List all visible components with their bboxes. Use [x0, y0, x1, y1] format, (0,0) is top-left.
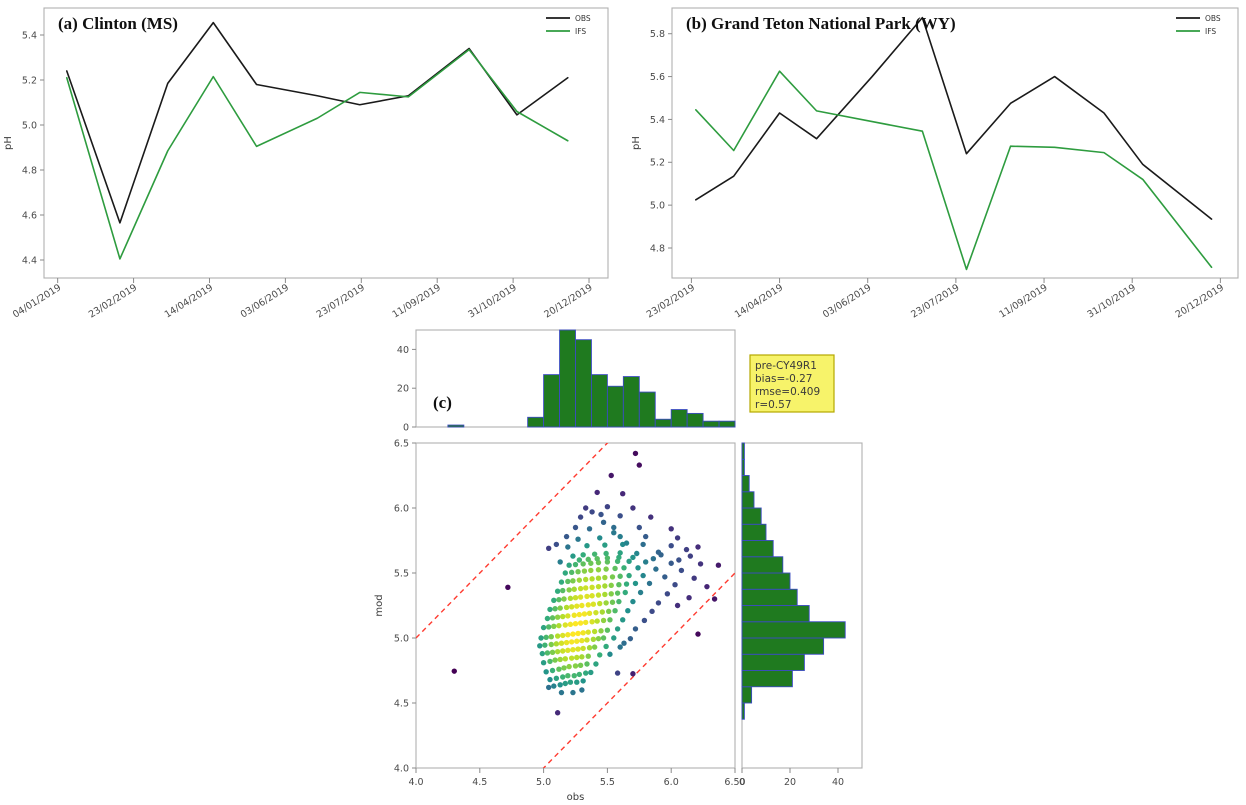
scatter-point	[616, 582, 621, 587]
scatter-point	[669, 543, 674, 548]
scatter-point	[625, 608, 630, 613]
scatter-point	[607, 652, 612, 657]
panel-b-xtick-label: 20/12/2019	[1174, 282, 1226, 320]
scatter-point	[557, 682, 562, 687]
scatter-point	[676, 557, 681, 562]
scatter-point	[547, 677, 552, 682]
scatter-point	[563, 570, 568, 575]
scatter-point	[560, 588, 565, 593]
scatter-point	[640, 542, 645, 547]
scatter-point	[580, 561, 585, 566]
scatter-point	[577, 672, 582, 677]
scatter-point	[605, 555, 610, 560]
hist-top-bar	[671, 410, 687, 427]
scatter-point	[603, 551, 608, 556]
hist-top-bar	[687, 413, 703, 427]
hist-top-bar	[719, 421, 735, 427]
panel-a-xtick-label: 23/02/2019	[87, 282, 139, 320]
scatter-point	[578, 586, 583, 591]
scatter-point	[606, 609, 611, 614]
scatter-point	[633, 581, 638, 586]
scatter-point	[649, 609, 654, 614]
scatter-point	[552, 606, 557, 611]
scatter-point	[615, 590, 620, 595]
panel-a-legend-label-obs: OBS	[575, 14, 591, 23]
scatter-point	[675, 535, 680, 540]
panel-c-label: (c)	[433, 393, 452, 412]
scatter-point	[554, 542, 559, 547]
scatter-point	[675, 603, 680, 608]
scatter-xlabel: obs	[567, 792, 585, 803]
scatter-point	[564, 534, 569, 539]
scatter-point	[550, 615, 555, 620]
scatter-point	[547, 607, 552, 612]
hist-right-xtick-label: 20	[784, 777, 796, 788]
scatter-point	[560, 614, 565, 619]
panel-a-xtick-label: 03/06/2019	[239, 282, 291, 320]
scatter-point	[579, 687, 584, 692]
panel-a-xtick-label: 23/07/2019	[315, 282, 367, 320]
scatter-point	[601, 635, 606, 640]
scatter-point	[588, 568, 593, 573]
scatter-point	[624, 581, 629, 586]
scatter-point	[638, 590, 643, 595]
scatter-point	[621, 565, 626, 570]
scatter-point	[568, 680, 573, 685]
scatter-point	[586, 654, 591, 659]
scatter-point	[555, 615, 560, 620]
scatter-point	[577, 577, 582, 582]
scatter-point	[583, 585, 588, 590]
scatter-point	[565, 673, 570, 678]
scatter-point	[541, 660, 546, 665]
scatter-point	[555, 633, 560, 638]
panel-a-xtick-label: 31/10/2019	[466, 282, 518, 320]
scatter-point	[565, 648, 570, 653]
scatter-point	[592, 629, 597, 634]
scatter-point	[691, 576, 696, 581]
hist-top-ytick-label: 0	[403, 422, 409, 433]
scatter-point	[607, 617, 612, 622]
scatter-point	[637, 525, 642, 530]
scatter-ytick-label: 5.0	[394, 633, 409, 644]
scatter-point	[551, 624, 556, 629]
panel-a-ytick-label: 4.4	[22, 255, 37, 266]
scatter-xtick-label: 5.0	[536, 777, 551, 788]
scatter-point	[452, 668, 457, 673]
scatter-point	[578, 594, 583, 599]
scatter-point	[574, 655, 579, 660]
hist-top-bar	[544, 375, 560, 427]
scatter-point	[569, 604, 574, 609]
scatter-point	[573, 595, 578, 600]
scatter-point	[570, 631, 575, 636]
scatter-point	[583, 670, 588, 675]
scatter-point	[568, 622, 573, 627]
scatter-point	[546, 546, 551, 551]
hist-top-bar	[448, 425, 464, 427]
scatter-point	[582, 568, 587, 573]
panel-b-ytick-label: 4.8	[650, 243, 665, 254]
hist-top-ytick-label: 20	[397, 384, 409, 395]
panel-a-ylabel: pH	[3, 136, 14, 150]
scatter-point	[669, 561, 674, 566]
scatter-point	[565, 579, 570, 584]
scatter-point	[551, 598, 556, 603]
scatter-point	[556, 667, 561, 672]
scatter-point	[584, 543, 589, 548]
scatter-point	[594, 490, 599, 495]
scatter-point	[616, 599, 621, 604]
scatter-point	[583, 505, 588, 510]
panel-b-title: (b) Grand Teton National Park (WY)	[686, 14, 956, 33]
scatter-point	[686, 595, 691, 600]
scatter-point	[560, 633, 565, 638]
scatter-point	[554, 641, 559, 646]
hist-top-bar	[607, 386, 623, 427]
scatter-point	[575, 569, 580, 574]
scatter-point	[559, 579, 564, 584]
scatter-point	[603, 600, 608, 605]
scatter-ytick-label: 6.5	[394, 438, 409, 449]
scatter-point	[597, 652, 602, 657]
scatter-point	[575, 646, 580, 651]
scatter-point	[605, 504, 610, 509]
panel-b-ytick-label: 5.6	[650, 72, 665, 83]
hist-top-bar	[623, 377, 639, 427]
scatter-point	[570, 578, 575, 583]
panel-a-ytick-label: 4.6	[22, 210, 37, 221]
hist-right-xtick-label: 40	[832, 777, 844, 788]
scatter-point	[575, 537, 580, 542]
hist-top-bar	[576, 340, 592, 427]
scatter-xtick-label: 4.0	[408, 777, 423, 788]
scatter-point	[643, 559, 648, 564]
scatter-point	[580, 678, 585, 683]
scatter-point	[589, 593, 594, 598]
scatter-point	[586, 557, 591, 562]
hist-right-bar	[742, 541, 773, 557]
scatter-point	[704, 584, 709, 589]
scatter-point	[566, 664, 571, 669]
scatter-point	[570, 690, 575, 695]
scatter-point	[555, 589, 560, 594]
scatter-point	[624, 540, 629, 545]
scatter-point	[565, 613, 570, 618]
scatter-point	[630, 599, 635, 604]
scatter-point	[656, 600, 661, 605]
scatter-point	[603, 644, 608, 649]
scatter-point	[545, 650, 550, 655]
scatter-point	[679, 568, 684, 573]
scatter-point	[656, 550, 661, 555]
scatter-point	[615, 670, 620, 675]
hist-right-bar	[742, 622, 845, 638]
scatter-point	[578, 620, 583, 625]
scatter-point	[637, 462, 642, 467]
scatter-point	[601, 618, 606, 623]
scatter-point	[617, 534, 622, 539]
scatter-point	[570, 647, 575, 652]
scatter-ytick-label: 4.0	[394, 763, 409, 774]
scatter-point	[648, 514, 653, 519]
annotation-r: r=0.57	[755, 399, 792, 411]
scatter-point	[582, 611, 587, 616]
scatter-point	[550, 650, 555, 655]
scatter-point	[577, 612, 582, 617]
hist-right-bar	[742, 492, 754, 508]
scatter-point	[605, 628, 610, 633]
scatter-point	[572, 673, 577, 678]
scatter-point	[684, 547, 689, 552]
scatter-point	[626, 573, 631, 578]
scatter-point	[611, 525, 616, 530]
hist-top-bar	[560, 330, 576, 427]
scatter-ytick-label: 4.5	[394, 698, 409, 709]
scatter-point	[592, 644, 597, 649]
scatter-point	[597, 601, 602, 606]
scatter-point	[559, 690, 564, 695]
scatter-point	[598, 628, 603, 633]
scatter-point	[560, 674, 565, 679]
panel-b-xtick-label: 11/09/2019	[997, 282, 1049, 320]
hist-right-bar	[742, 671, 792, 687]
panel-b-legend-label-obs: OBS	[1205, 14, 1221, 23]
scatter-point	[537, 643, 542, 648]
scatter-point	[550, 668, 555, 673]
scatter-point	[609, 473, 614, 478]
scatter-point	[556, 597, 561, 602]
scatter-point	[695, 631, 700, 636]
panel-b-ytick-label: 5.2	[650, 158, 665, 169]
figure-svg: 4.44.64.85.05.25.4pH04/01/201923/02/2019…	[0, 0, 1246, 805]
annotation-bias: bias=-0.27	[755, 373, 812, 385]
panel-a-ytick-label: 4.8	[22, 165, 37, 176]
scatter-point	[600, 609, 605, 614]
hist-right-bar	[742, 589, 797, 605]
scatter-point	[612, 608, 617, 613]
scatter-point	[578, 663, 583, 668]
scatter-point	[634, 551, 639, 556]
scatter-point	[591, 602, 596, 607]
scatter-point	[572, 587, 577, 592]
scatter-point	[559, 641, 564, 646]
scatter-point	[569, 655, 574, 660]
scatter-point	[583, 577, 588, 582]
panel-a-xtick-label: 14/04/2019	[163, 282, 215, 320]
scatter-point	[563, 681, 568, 686]
scatter-point	[546, 685, 551, 690]
scatter-ylabel: mod	[374, 594, 385, 616]
hist-right-bar	[742, 703, 744, 719]
panel-b-ytick-label: 5.0	[650, 201, 665, 212]
hist-top-bar	[528, 417, 544, 427]
panel-a-legend-label-ifs: IFS	[575, 27, 586, 36]
scatter-point	[610, 574, 615, 579]
scatter-point	[568, 596, 573, 601]
scatter-point	[589, 509, 594, 514]
scatter-point	[584, 594, 589, 599]
hist-right-bar	[742, 573, 790, 589]
panel-a-ytick-label: 5.4	[22, 30, 37, 41]
scatter-point	[569, 639, 574, 644]
hist-top-bar	[591, 375, 607, 427]
scatter-point	[712, 596, 717, 601]
scatter-point	[593, 661, 598, 666]
scatter-point	[573, 663, 578, 668]
scatter-xtick-label: 4.5	[472, 777, 487, 788]
scatter-point	[587, 526, 592, 531]
hist-right-bar	[742, 687, 752, 703]
scatter-point	[602, 592, 607, 597]
scatter-point	[592, 551, 597, 556]
scatter-point	[611, 635, 616, 640]
hist-top-bar	[639, 392, 655, 427]
scatter-point	[651, 556, 656, 561]
scatter-point	[642, 618, 647, 623]
hist-right-bar	[742, 524, 766, 540]
scatter-point	[573, 621, 578, 626]
scatter-point	[574, 603, 579, 608]
scatter-point	[596, 584, 601, 589]
scatter-point	[552, 657, 557, 662]
scatter-point	[565, 544, 570, 549]
scatter-point	[603, 566, 608, 571]
scatter-point	[588, 670, 593, 675]
hist-right-bar	[742, 476, 749, 492]
scatter-point	[589, 585, 594, 590]
scatter-point	[579, 654, 584, 659]
scatter-point	[596, 567, 601, 572]
scatter-point	[574, 680, 579, 685]
scatter-point	[566, 563, 571, 568]
scatter-ytick-label: 5.5	[394, 568, 409, 579]
scatter-point	[505, 585, 510, 590]
panel-a-xtick-label: 11/09/2019	[391, 282, 443, 320]
scatter-point	[593, 610, 598, 615]
scatter-point	[542, 642, 547, 647]
scatter-point	[653, 566, 658, 571]
panel-a-ytick-label: 5.2	[22, 75, 37, 86]
scatter-point	[633, 626, 638, 631]
scatter-point	[563, 656, 568, 661]
scatter-point	[551, 683, 556, 688]
scatter-xtick-label: 5.5	[600, 777, 615, 788]
panel-a-title: (a) Clinton (MS)	[58, 14, 178, 33]
scatter-point	[647, 581, 652, 586]
scatter-point	[579, 638, 584, 643]
scatter-point	[564, 605, 569, 610]
scatter-point	[662, 574, 667, 579]
scatter-point	[570, 553, 575, 558]
scatter-point	[628, 636, 633, 641]
panel-a-ytick-label: 5.0	[22, 120, 37, 131]
scatter-point	[560, 648, 565, 653]
scatter-ytick-label: 6.0	[394, 503, 409, 514]
scatter-point	[574, 639, 579, 644]
scatter-point	[569, 570, 574, 575]
scatter-point	[580, 646, 585, 651]
scatter-point	[577, 557, 582, 562]
scatter-point	[587, 645, 592, 650]
scatter-point	[573, 562, 578, 567]
scatter-point	[609, 591, 614, 596]
hist-right-bar	[742, 638, 824, 654]
scatter-point	[549, 634, 554, 639]
scatter-point	[586, 629, 591, 634]
annotation-title: pre-CY49R1	[755, 360, 817, 372]
scatter-point	[555, 710, 560, 715]
panel-b-ytick-label: 5.8	[650, 29, 665, 40]
scatter-point	[617, 574, 622, 579]
scatter-point	[575, 631, 580, 636]
scatter-point	[602, 575, 607, 580]
scatter-point	[665, 591, 670, 596]
scatter-point	[584, 661, 589, 666]
scatter-point	[584, 637, 589, 642]
scatter-point	[556, 623, 561, 628]
scatter-point	[557, 605, 562, 610]
scatter-point	[546, 624, 551, 629]
scatter-point	[594, 618, 599, 623]
scatter-point	[554, 676, 559, 681]
scatter-point	[594, 556, 599, 561]
hist-right-bar	[742, 654, 804, 670]
panel-b-legend-label-ifs: IFS	[1205, 27, 1216, 36]
scatter-point	[609, 583, 614, 588]
panel-b-xtick-label: 31/10/2019	[1086, 282, 1138, 320]
scatter-point	[541, 625, 546, 630]
scatter-point	[716, 563, 721, 568]
scatter-point	[545, 616, 550, 621]
scatter-point	[630, 555, 635, 560]
figure-canvas: 4.44.64.85.05.25.4pH04/01/201923/02/2019…	[0, 0, 1246, 805]
scatter-point	[620, 617, 625, 622]
scatter-point	[620, 491, 625, 496]
scatter-point	[557, 559, 562, 564]
scatter-point	[543, 669, 548, 674]
panel-a-xtick-label: 20/12/2019	[542, 282, 594, 320]
scatter-point	[540, 651, 545, 656]
scatter-point	[621, 641, 626, 646]
scatter-point	[640, 573, 645, 578]
scatter-point	[698, 561, 703, 566]
hist-right-bar	[742, 443, 744, 459]
scatter-point	[695, 544, 700, 549]
scatter-point	[612, 566, 617, 571]
scatter-point	[563, 622, 568, 627]
scatter-point	[561, 665, 566, 670]
scatter-point	[617, 644, 622, 649]
scatter-point	[611, 530, 616, 535]
scatter-point	[543, 635, 548, 640]
scatter-point	[596, 636, 601, 641]
scatter-point	[572, 613, 577, 618]
scatter-point	[630, 671, 635, 676]
panel-a-xtick-label: 04/01/2019	[11, 282, 63, 320]
scatter-point	[549, 642, 554, 647]
scatter-point	[598, 512, 603, 517]
scatter-point	[547, 659, 552, 664]
scatter-point	[633, 451, 638, 456]
scatter-point	[555, 649, 560, 654]
panel-b-ylabel: pH	[631, 136, 642, 150]
scatter-point	[643, 534, 648, 539]
hist-right-bar	[742, 557, 783, 573]
scatter-xtick-label: 6.0	[664, 777, 679, 788]
scatter-point	[589, 619, 594, 624]
scatter-point	[610, 600, 615, 605]
